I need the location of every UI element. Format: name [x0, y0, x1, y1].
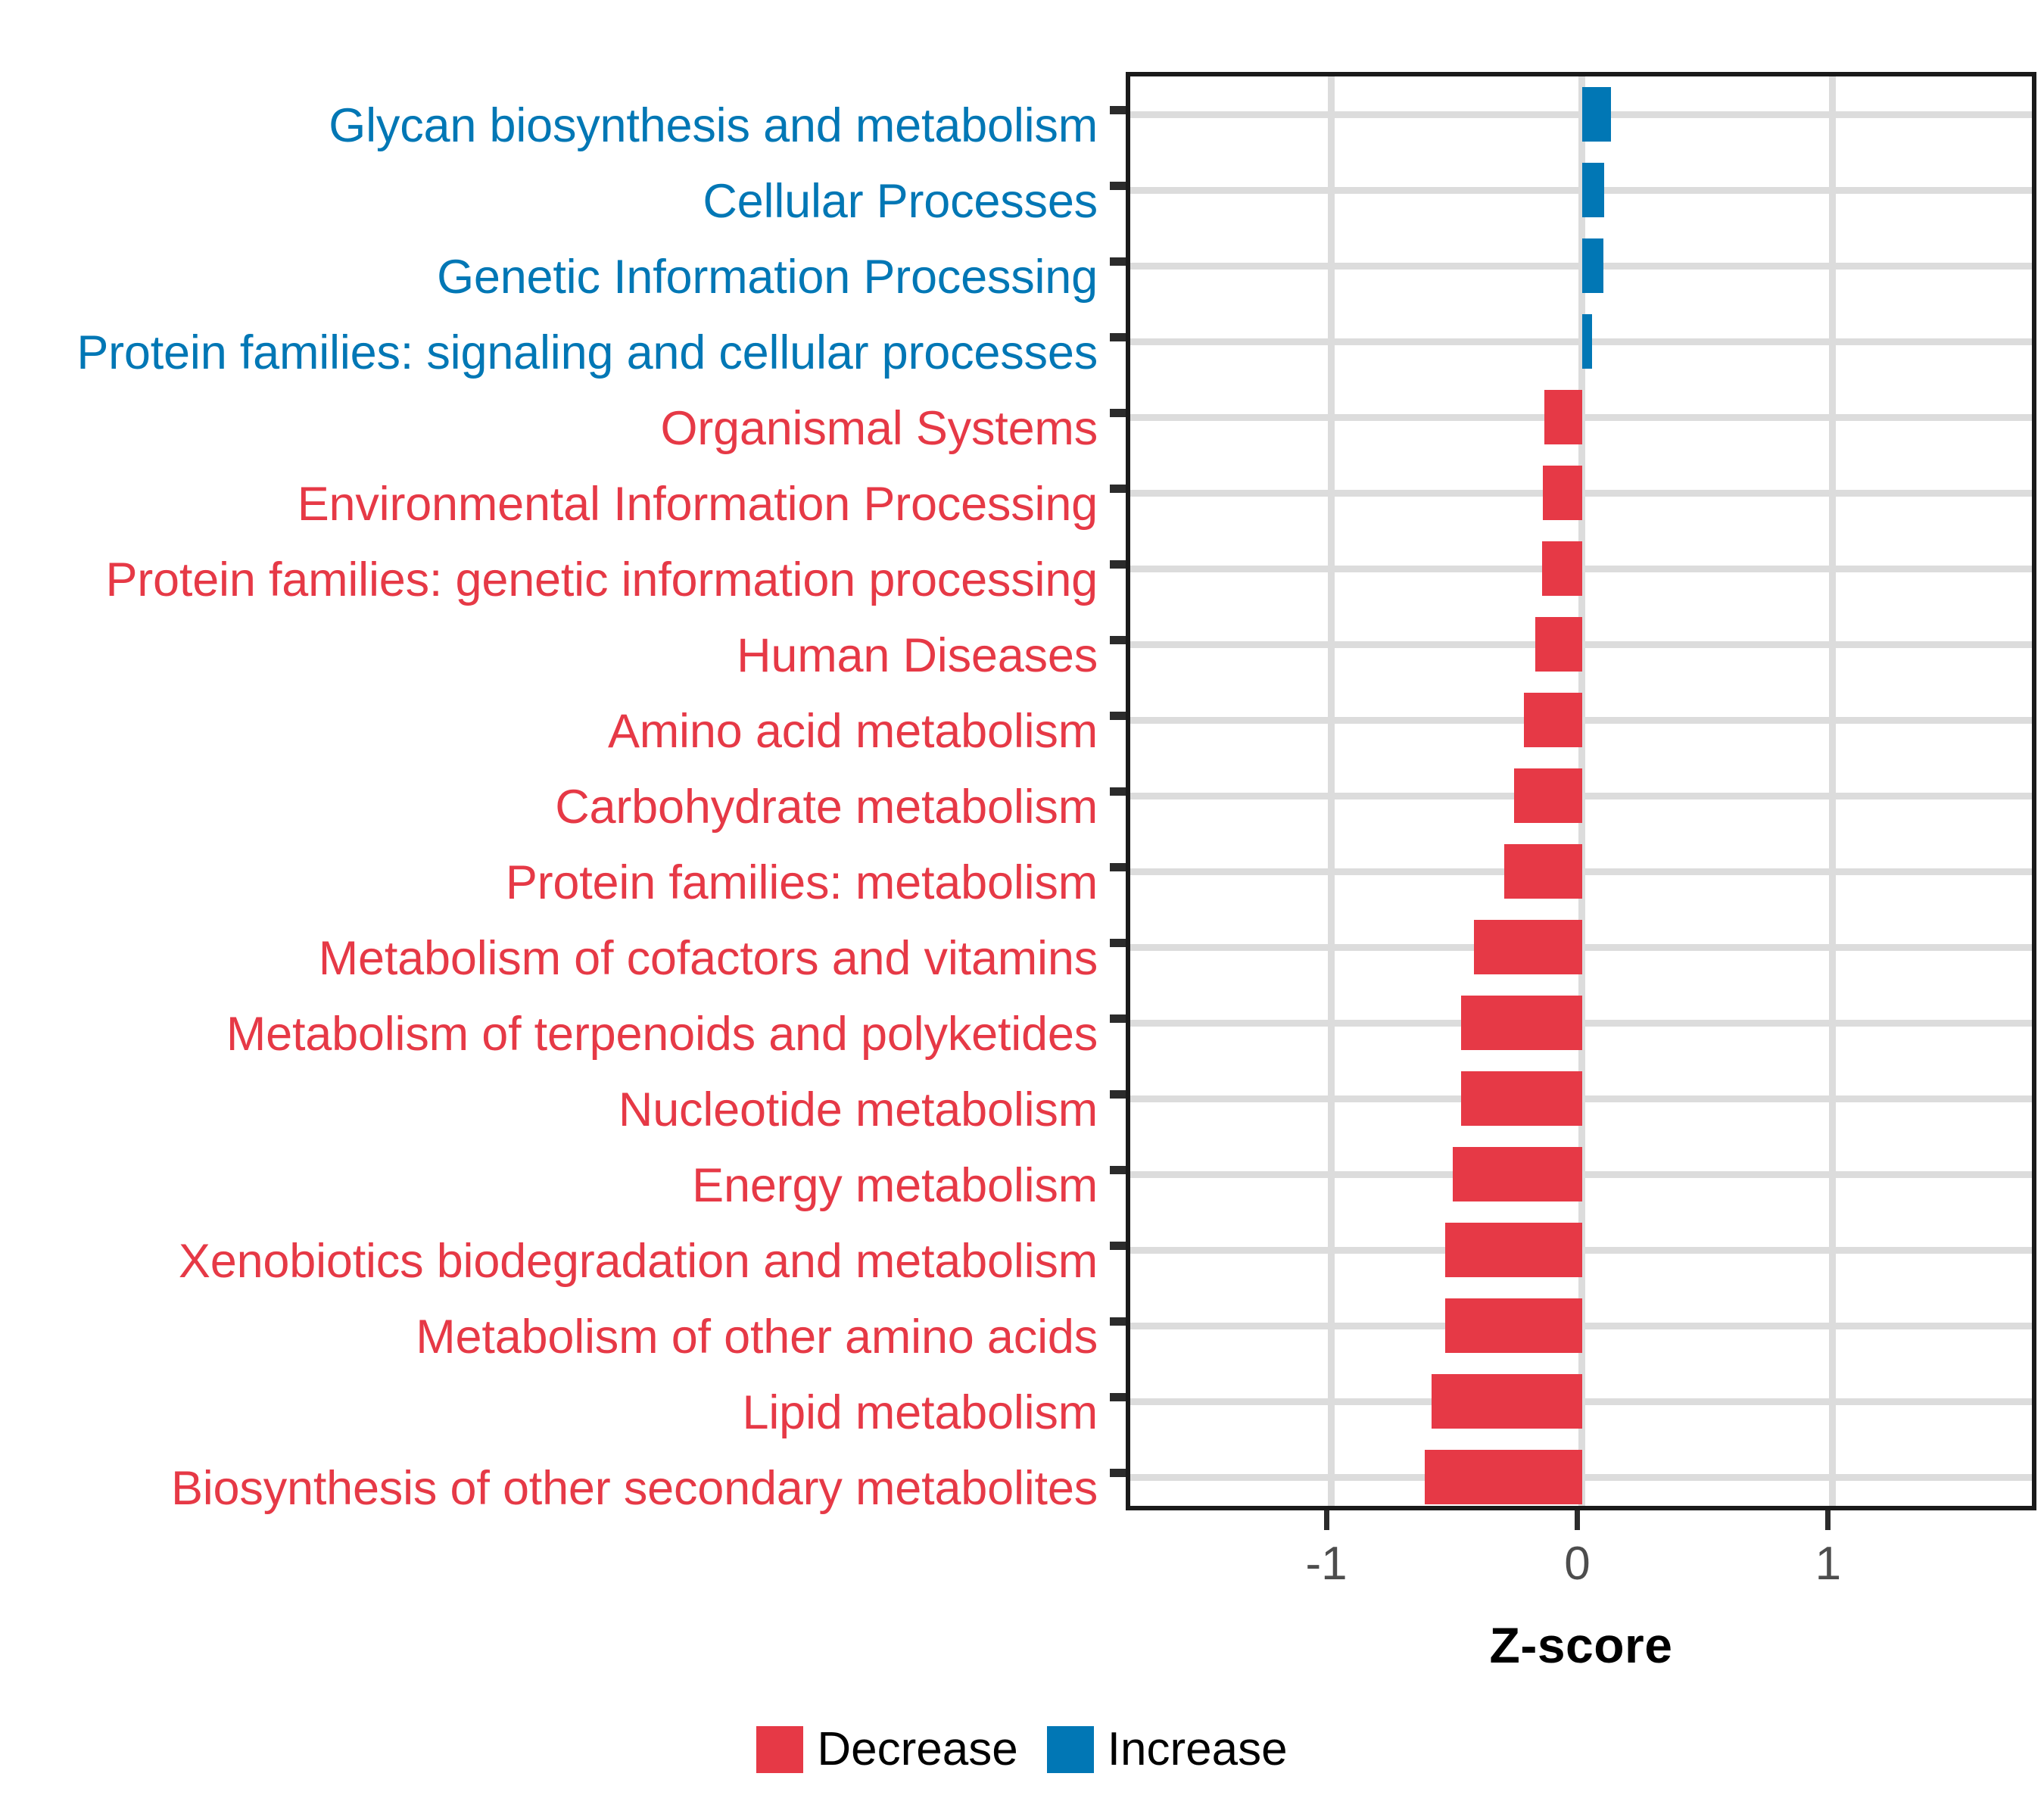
x-axis-title: Z-score	[1126, 1616, 2036, 1674]
y-axis-tick	[1110, 485, 1126, 493]
chart-bar[interactable]	[1432, 1374, 1582, 1429]
y-axis-tick	[1110, 560, 1126, 569]
legend-label: Decrease	[817, 1726, 1017, 1773]
y-axis-tick	[1110, 106, 1126, 114]
y-axis-tick	[1110, 1393, 1126, 1401]
vertical-gridline	[1328, 76, 1335, 1506]
chart-bar[interactable]	[1543, 466, 1581, 520]
y-axis-tick	[1110, 1090, 1126, 1099]
chart-bar[interactable]	[1582, 238, 1603, 293]
y-axis-tick	[1110, 712, 1126, 720]
chart-bar[interactable]	[1461, 1071, 1581, 1126]
chart-figure: Glycan biosynthesis and metabolismCellul…	[0, 0, 2044, 1817]
horizontal-gridline	[1130, 338, 2032, 345]
chart-legend: DecreaseIncrease	[0, 1726, 2044, 1773]
plot-panel	[1126, 72, 2036, 1510]
y-axis-tick	[1110, 182, 1126, 190]
chart-bar[interactable]	[1544, 390, 1582, 444]
chart-bar[interactable]	[1542, 541, 1582, 596]
vertical-gridline	[1829, 76, 1836, 1506]
legend-swatch	[756, 1726, 803, 1773]
y-axis-tick	[1110, 1014, 1126, 1023]
chart-bar[interactable]	[1453, 1147, 1582, 1201]
chart-bar[interactable]	[1461, 996, 1581, 1050]
chart-bar[interactable]	[1445, 1298, 1582, 1353]
y-axis-tick	[1110, 257, 1126, 266]
y-axis-tick	[1110, 1469, 1126, 1477]
x-axis-tick-label: 1	[1753, 1537, 1904, 1591]
y-axis-tick	[1110, 787, 1126, 796]
y-axis-tick	[1110, 1242, 1126, 1250]
y-axis-tick	[1110, 1317, 1126, 1326]
x-axis-tick	[1825, 1510, 1831, 1530]
legend-item[interactable]: Decrease	[756, 1726, 1017, 1773]
chart-bar[interactable]	[1582, 87, 1611, 142]
legend-label: Increase	[1108, 1726, 1288, 1773]
chart-bar[interactable]	[1514, 768, 1581, 823]
chart-bar[interactable]	[1582, 163, 1604, 217]
y-axis-tick	[1110, 636, 1126, 644]
x-axis-tick-label: 0	[1502, 1537, 1653, 1591]
legend-item[interactable]: Increase	[1047, 1726, 1288, 1773]
y-axis-tick	[1110, 1166, 1126, 1174]
chart-bar[interactable]	[1425, 1450, 1581, 1504]
y-axis-tick	[1110, 863, 1126, 871]
y-axis-tick	[1110, 409, 1126, 417]
chart-bar[interactable]	[1524, 693, 1581, 747]
x-axis-tick	[1324, 1510, 1329, 1530]
y-axis-tick	[1110, 939, 1126, 947]
x-axis-tick-label: -1	[1251, 1537, 1402, 1591]
horizontal-gridline	[1130, 263, 2032, 270]
chart-bar[interactable]	[1474, 920, 1582, 974]
chart-bar[interactable]	[1504, 844, 1582, 899]
horizontal-gridline	[1130, 187, 2032, 194]
chart-bar[interactable]	[1582, 314, 1592, 369]
y-axis-labels: Glycan biosynthesis and metabolismCellul…	[0, 72, 1111, 1510]
plot-area	[1130, 76, 2032, 1506]
chart-bar[interactable]	[1445, 1223, 1582, 1277]
horizontal-gridline	[1130, 111, 2032, 118]
y-axis-tick	[1110, 333, 1126, 341]
chart-bar[interactable]	[1535, 617, 1581, 672]
x-axis-tick	[1575, 1510, 1580, 1530]
legend-swatch	[1047, 1726, 1094, 1773]
